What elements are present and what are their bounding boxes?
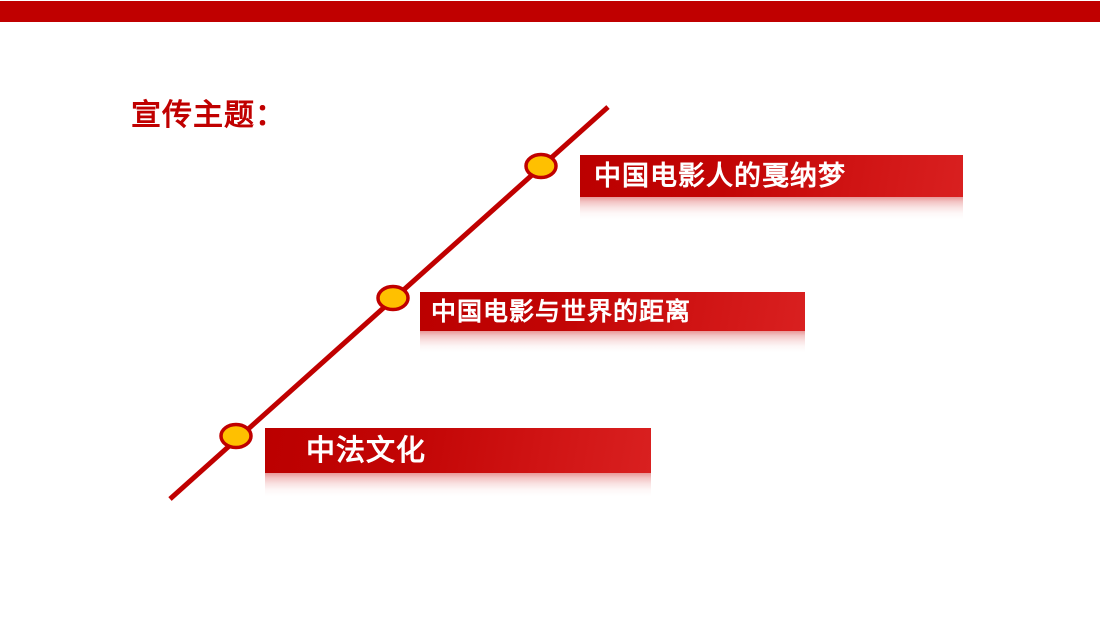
banner-reflection (580, 197, 963, 219)
banner-label: 中法文化 (306, 436, 426, 465)
banner-distance-world[interactable]: 中国电影与世界的距离 (420, 292, 805, 352)
banner-reflection (265, 473, 651, 496)
banner-cannes-dream[interactable]: 中国电影人的戛纳梦 (580, 155, 963, 219)
banner-body: 中国电影人的戛纳梦 (580, 155, 963, 197)
marker-sino-french-culture[interactable] (221, 425, 251, 448)
banner-label: 中国电影人的戛纳梦 (594, 163, 846, 190)
slide-canvas: 宣传主题： 中国电影人的戛纳梦 中国电影与世界的距离 中法文化 (0, 0, 1100, 631)
banner-reflection (420, 331, 805, 352)
marker-cannes-dream[interactable] (526, 155, 556, 178)
marker-distance-world[interactable] (378, 287, 408, 310)
banner-body: 中法文化 (265, 428, 651, 473)
banner-sino-french-culture[interactable]: 中法文化 (265, 428, 651, 496)
banner-label: 中国电影与世界的距离 (431, 299, 691, 324)
banner-body: 中国电影与世界的距离 (420, 292, 805, 331)
